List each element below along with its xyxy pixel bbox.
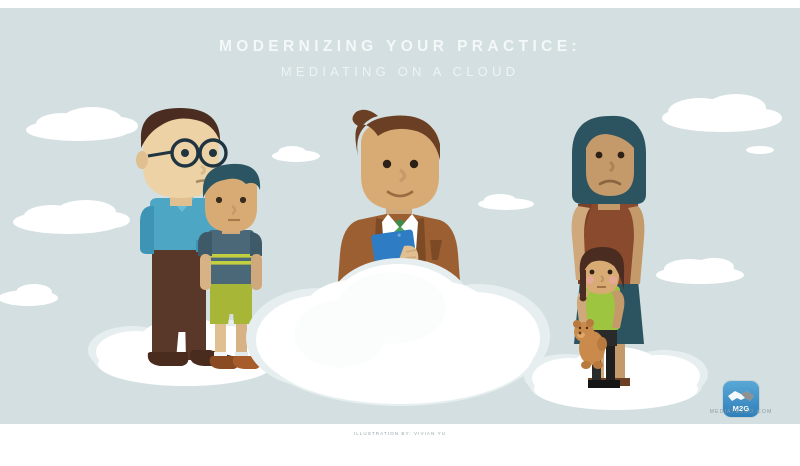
girl-braid-tip <box>580 295 587 302</box>
mediator-eye-right <box>410 160 418 168</box>
boy-arm-left <box>200 254 211 290</box>
man-sleeve-left <box>140 206 154 254</box>
boy-eye-right <box>240 197 246 203</box>
girl-shoe-left <box>588 380 604 388</box>
woman-eye-right <box>618 152 625 159</box>
man-ear <box>136 151 148 169</box>
man-shoe-left <box>148 352 189 366</box>
girl-hair-braid <box>580 270 586 296</box>
sky-background <box>0 8 800 424</box>
boy-stripe-1 <box>208 254 254 258</box>
girl-eye-right <box>608 270 613 275</box>
girl-cheek-right <box>609 276 617 284</box>
scene-svg <box>0 8 800 424</box>
boy-stripe-2 <box>208 261 254 265</box>
girl-shoe-right <box>604 380 620 388</box>
illustration-canvas: MODERNIZING YOUR PRACTICE: MEDIATING ON … <box>0 0 800 466</box>
girl-eye-left <box>590 270 595 275</box>
woman-hair-side <box>578 148 586 200</box>
boy-arm-right <box>251 254 262 290</box>
boy-eye-left <box>216 197 222 203</box>
mediator-eye-left <box>383 160 391 168</box>
woman-eye-left <box>596 152 603 159</box>
m2g-logo-caption: MEDIATE2GO.COM <box>698 409 784 415</box>
girl-cheek-left <box>586 276 594 284</box>
illustration-credit: ILLUSTRATION BY: VIVIAN YU <box>0 431 800 436</box>
cloud-bg-7 <box>746 146 774 154</box>
